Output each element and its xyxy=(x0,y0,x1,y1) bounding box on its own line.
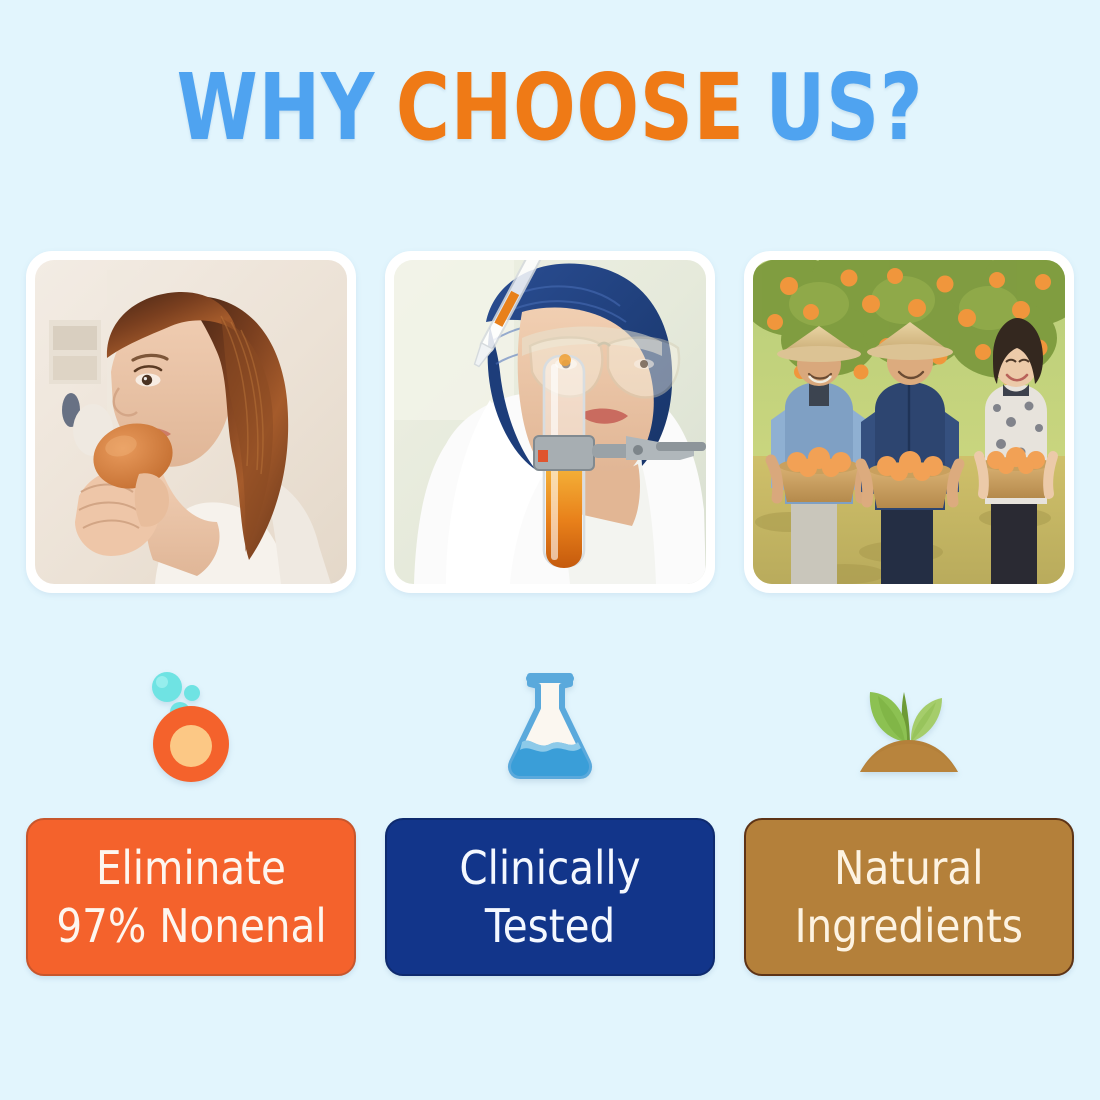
page-title: WHYCHOOSEUS? xyxy=(110,58,990,158)
farmers-orchard-photo xyxy=(753,260,1065,584)
title-word-us: US? xyxy=(766,54,924,161)
feature-label-line2: Tested xyxy=(485,897,615,955)
odor-molecule-icon xyxy=(136,660,246,788)
sprout-plant-icon xyxy=(850,666,968,782)
photo-card-1[interactable] xyxy=(26,251,356,593)
lab-flask-icon xyxy=(500,664,600,784)
infographic-page: WHYCHOOSEUS? xyxy=(0,0,1100,1100)
lab-scientist-photo xyxy=(394,260,706,584)
feature-label-line2: 97% Nonenal xyxy=(56,897,326,955)
icon-cell-2 xyxy=(385,654,715,794)
title-word-why: WHY xyxy=(177,54,375,161)
feature-card-eliminate[interactable]: Eliminate 97% Nonenal xyxy=(26,818,356,976)
photo-row xyxy=(26,251,1074,593)
feature-label-line2: Ingredients xyxy=(795,897,1023,955)
icon-cell-3 xyxy=(744,654,1074,794)
feature-label-line1: Eliminate xyxy=(96,839,286,897)
label-row: Eliminate 97% Nonenal Clinically Tested … xyxy=(26,818,1074,976)
feature-label-line1: Clinically xyxy=(459,839,640,897)
photo-card-2[interactable] xyxy=(385,251,715,593)
feature-card-clinically-tested[interactable]: Clinically Tested xyxy=(385,818,715,976)
photo-card-3[interactable] xyxy=(744,251,1074,593)
title-word-choose: CHOOSE xyxy=(396,54,745,161)
woman-smelling-soap-photo xyxy=(35,260,347,584)
feature-label-line1: Natural xyxy=(834,839,983,897)
icon-row xyxy=(26,654,1074,794)
icon-cell-1 xyxy=(26,654,356,794)
feature-card-natural-ingredients[interactable]: Natural Ingredients xyxy=(744,818,1074,976)
